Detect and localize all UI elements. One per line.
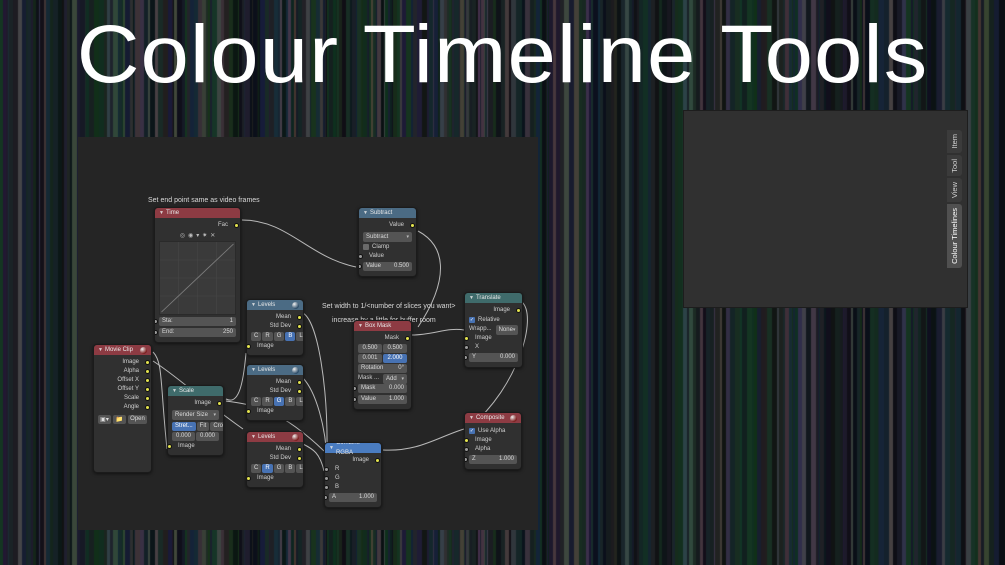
output-socket[interactable]: [410, 223, 415, 228]
curve-toolbar[interactable]: ◎◉▾✷✕: [159, 230, 236, 240]
input-socket[interactable]: [324, 485, 329, 490]
node-field[interactable]: Value0.500: [363, 262, 412, 271]
node-input-label: Image: [257, 407, 274, 416]
zoom-in-icon[interactable]: ◎: [180, 232, 185, 239]
zoom-out-icon[interactable]: ◉: [188, 232, 193, 239]
node-field[interactable]: A1.000: [329, 493, 377, 502]
node-header[interactable]: ▼Composite: [465, 413, 521, 423]
node-channel-button[interactable]: R: [262, 332, 272, 341]
node-field-row[interactable]: End:250: [159, 327, 236, 338]
node-dropdown-value: Add: [386, 374, 397, 384]
translate-node[interactable]: ▼TranslateImage✓RelativeWrapp...None▾Ima…: [464, 292, 523, 368]
node-output-row[interactable]: Alpha: [98, 367, 147, 376]
output-socket[interactable]: [145, 387, 150, 392]
node-channel-button[interactable]: L: [296, 397, 304, 406]
node-header[interactable]: ▼Levels: [247, 365, 303, 375]
node-input-label: Value: [369, 252, 384, 261]
node-value-pair[interactable]: 0.5000.500: [358, 344, 407, 353]
node-mode-group[interactable]: Stret...FitCrop: [172, 422, 219, 431]
node-output-row[interactable]: Scale: [98, 394, 147, 403]
node-annotation: Set end point same as video frames: [148, 197, 260, 204]
node-output-label: Image: [493, 306, 510, 315]
node-output-label: Mean: [276, 378, 291, 387]
output-socket[interactable]: [405, 336, 410, 341]
node-input-row[interactable]: X: [469, 343, 518, 352]
input-socket[interactable]: [358, 264, 362, 269]
combine-rgba-node[interactable]: ▼Combine RGBAImageRGBA1.000: [324, 442, 382, 508]
output-socket[interactable]: [145, 405, 150, 410]
node-value-field[interactable]: 0.000: [196, 432, 219, 441]
checkbox-icon[interactable]: [363, 244, 369, 250]
node-header[interactable]: ▼Levels: [247, 300, 303, 310]
node-channel-button[interactable]: R: [262, 397, 272, 406]
node-output-row[interactable]: Mean: [251, 378, 299, 387]
output-socket[interactable]: [297, 389, 302, 394]
node-output-label: Std Dev: [270, 454, 291, 463]
node-preview-sphere-icon: [292, 434, 299, 441]
levels-node-g[interactable]: ▼LevelsMeanStd DevCRGBLImage: [246, 364, 304, 421]
output-socket[interactable]: [297, 315, 302, 320]
node-rotation-label: Rotation: [361, 364, 383, 373]
node-preview-sphere-icon: [292, 367, 299, 374]
node-title: Levels: [258, 432, 275, 442]
node-collapse-icon[interactable]: ▼: [329, 443, 334, 453]
input-socket[interactable]: [353, 397, 357, 402]
curve-widget[interactable]: [159, 241, 236, 315]
sidebar-tabs[interactable]: ItemToolViewColour Timelines: [947, 130, 964, 302]
tab-item[interactable]: Item: [947, 130, 962, 153]
node-dropdown-row[interactable]: Mask ...Add▾: [358, 374, 407, 383]
input-socket[interactable]: [167, 444, 172, 449]
node-preview-sphere-icon: [292, 302, 299, 309]
input-socket[interactable]: [358, 254, 363, 259]
node-field-label: Sta:: [162, 317, 173, 326]
levels-node-b[interactable]: ▼LevelsMeanStd DevCRGBLImage: [246, 299, 304, 356]
open-button[interactable]: Open: [128, 415, 147, 424]
node-output-label: Std Dev: [270, 322, 291, 331]
node-dropdown-label: Wrapp...: [469, 325, 492, 334]
movie-clip-node[interactable]: ▼Movie ClipImageAlphaOffset XOffset YSca…: [93, 344, 152, 473]
checkbox-icon[interactable]: ✓: [469, 317, 475, 323]
node-header[interactable]: ▼Translate: [465, 293, 522, 303]
node-collapse-icon[interactable]: ▼: [251, 300, 256, 310]
node-channel-button[interactable]: G: [274, 332, 285, 341]
node-input-row[interactable]: Image: [251, 342, 299, 351]
node-field-label: Mask: [361, 384, 375, 393]
node-field-label: Value: [361, 395, 376, 404]
node-mode-button[interactable]: Fit: [197, 422, 210, 431]
node-preview-sphere-icon: [140, 347, 147, 354]
node-output-row[interactable]: Offset Y: [98, 385, 147, 394]
tab-colour-timelines[interactable]: Colour Timelines: [947, 204, 962, 268]
output-socket[interactable]: [145, 378, 150, 383]
node-output-row[interactable]: Std Dev: [251, 322, 299, 331]
scale-node[interactable]: ▼ScaleImageRender Size▾Stret...FitCrop0.…: [167, 385, 224, 456]
node-input-row[interactable]: Image: [251, 407, 299, 416]
output-socket[interactable]: [234, 223, 239, 228]
node-collapse-icon[interactable]: ▼: [251, 365, 256, 375]
node-input-label: Image: [178, 442, 195, 451]
node-output-label: Image: [352, 456, 369, 465]
output-socket[interactable]: [217, 401, 222, 406]
node-field-row[interactable]: Value0.500: [363, 261, 412, 272]
node-channel-button[interactable]: C: [251, 397, 261, 406]
node-output-label: Image: [194, 399, 211, 408]
input-socket[interactable]: [246, 476, 251, 481]
node-output-row[interactable]: Value: [363, 221, 412, 230]
node-preview-sphere-icon: [510, 415, 517, 422]
output-socket[interactable]: [145, 369, 150, 374]
node-field-value: 0.000: [500, 353, 515, 362]
node-value-field[interactable]: 0.500: [358, 344, 382, 353]
node-channel-button[interactable]: B: [285, 397, 295, 406]
node-output-row[interactable]: Mask: [358, 334, 407, 343]
node-dropdown-value: Render Size: [175, 410, 208, 420]
chevron-down-icon: ▾: [213, 410, 216, 420]
folder-icon[interactable]: 📁: [113, 415, 126, 424]
node-title: Translate: [476, 293, 501, 303]
node-input-row[interactable]: Image: [251, 474, 299, 483]
node-collapse-icon[interactable]: ▼: [469, 293, 474, 303]
node-field-label: Z: [472, 455, 476, 464]
node-output-label: Fac: [218, 221, 228, 230]
node-dropdown[interactable]: Render Size▾: [172, 410, 219, 420]
node-collapse-icon[interactable]: ▼: [251, 432, 256, 442]
node-output-row[interactable]: Mean: [251, 313, 299, 322]
chevron-down-icon: ▾: [513, 325, 516, 335]
node-dropdown-value: None: [499, 325, 513, 335]
node-rotation-field[interactable]: Rotation0°: [358, 364, 407, 373]
node-input-label: R: [335, 465, 339, 474]
node-rotation-value: 0°: [398, 364, 404, 373]
node-output-label: Std Dev: [270, 387, 291, 396]
node-field[interactable]: Sta:1: [159, 317, 236, 326]
node-collapse-icon[interactable]: ▼: [363, 208, 368, 218]
node-field[interactable]: Value1.000: [358, 395, 407, 404]
node-field-label: Y: [472, 353, 476, 362]
tab-view[interactable]: View: [947, 178, 962, 202]
node-field-value: 1: [230, 317, 233, 326]
node-field-value: 0.000: [389, 384, 404, 393]
node-field-value: 0.500: [394, 262, 409, 271]
node-output-row[interactable]: Image: [98, 358, 147, 367]
node-header[interactable]: ▼Movie Clip: [94, 345, 151, 355]
node-value-field[interactable]: 0.000: [172, 432, 195, 441]
time-node[interactable]: ▼TimeFac◎◉▾✷✕Sta:1End:250: [154, 207, 241, 343]
node-collapse-icon[interactable]: ▼: [469, 413, 474, 423]
node-input-row[interactable]: R: [329, 465, 377, 474]
node-input-label: Image: [475, 436, 492, 445]
output-socket[interactable]: [375, 458, 380, 463]
node-header[interactable]: ▼Time: [155, 208, 240, 218]
browse-image-icon[interactable]: ▣▾: [98, 415, 111, 424]
node-value-field[interactable]: 0.500: [383, 344, 407, 353]
node-field-value: 1.000: [499, 455, 514, 464]
node-collapse-icon[interactable]: ▼: [172, 386, 177, 396]
input-socket[interactable]: [353, 386, 357, 391]
node-channel-button[interactable]: C: [251, 464, 261, 473]
node-field-row[interactable]: Mask0.000: [358, 383, 407, 394]
node-channel-button[interactable]: G: [274, 464, 285, 473]
node-input-label: Alpha: [475, 445, 490, 454]
input-socket[interactable]: [324, 467, 329, 472]
tab-tool[interactable]: Tool: [947, 155, 962, 177]
input-socket[interactable]: [154, 330, 158, 335]
node-dropdown[interactable]: None▾: [496, 325, 519, 335]
node-collapse-icon[interactable]: ▼: [159, 208, 164, 218]
node-title: Box Mask: [365, 321, 391, 331]
node-value-pair[interactable]: 0.0012.000: [358, 354, 407, 363]
output-socket[interactable]: [297, 447, 302, 452]
node-channel-group[interactable]: CRGBL: [251, 464, 299, 473]
node-editor[interactable]: Set end point same as video framesSet wi…: [78, 137, 538, 530]
node-title: Composite: [476, 413, 505, 423]
input-socket[interactable]: [464, 457, 468, 462]
node-output-label: Scale: [124, 394, 139, 403]
output-socket[interactable]: [297, 380, 302, 385]
node-field[interactable]: Y0.000: [469, 353, 518, 362]
node-output-label: Alpha: [124, 367, 139, 376]
input-socket[interactable]: [154, 319, 158, 324]
node-output-label: Mean: [276, 313, 291, 322]
input-socket[interactable]: [324, 476, 329, 481]
properties-sidebar: ▼ Colour Timelines ✔ setup compositing ◉…: [683, 110, 968, 308]
node-field-value: 1.000: [389, 395, 404, 404]
node-output-label: Offset Y: [118, 385, 139, 394]
node-output-label: Image: [122, 358, 139, 367]
levels-node-r[interactable]: ▼LevelsMeanStd DevCRGBLImage: [246, 431, 304, 488]
node-value-field[interactable]: 0.001: [358, 354, 382, 363]
node-input-row[interactable]: Image: [172, 442, 219, 451]
node-output-label: Mask: [385, 334, 399, 343]
input-socket[interactable]: [464, 355, 468, 360]
output-socket[interactable]: [145, 396, 150, 401]
node-field-row[interactable]: Sta:1: [159, 316, 236, 327]
output-socket[interactable]: [145, 360, 150, 365]
node-field-label: Value: [366, 262, 381, 271]
node-channel-button[interactable]: L: [296, 332, 304, 341]
node-input-row[interactable]: G: [329, 474, 377, 483]
node-input-label: B: [335, 483, 339, 492]
node-input-row[interactable]: Image: [469, 334, 518, 343]
node-channel-group[interactable]: CRGBL: [251, 397, 299, 406]
node-field-value: 250: [223, 328, 233, 337]
node-checkbox-label: Clamp: [372, 244, 389, 250]
node-output-row[interactable]: Mean: [251, 445, 299, 454]
node-dropdown-row[interactable]: Wrapp...None▾: [469, 325, 518, 334]
input-socket[interactable]: [464, 438, 469, 443]
node-title: Levels: [258, 300, 275, 310]
node-value-field[interactable]: 2.000: [383, 354, 407, 363]
node-input-row[interactable]: Value: [363, 252, 412, 261]
node-channel-button[interactable]: G: [274, 397, 285, 406]
node-collapse-icon[interactable]: ▼: [98, 345, 103, 355]
node-input-row[interactable]: B: [329, 483, 377, 492]
node-output-row[interactable]: Std Dev: [251, 387, 299, 396]
node-mode-button[interactable]: Crop: [210, 422, 224, 431]
input-socket[interactable]: [246, 409, 251, 414]
node-mode-button[interactable]: Stret...: [172, 422, 196, 431]
tab-label: View: [950, 182, 959, 198]
node-field[interactable]: Z1.000: [469, 455, 517, 464]
node-checkbox-label: Relative: [478, 317, 500, 323]
box-mask-node[interactable]: ▼Box MaskMask0.5000.5000.0012.000Rotatio…: [353, 320, 412, 410]
node-header[interactable]: ▼Subtract: [359, 208, 416, 218]
x-icon[interactable]: ✕: [210, 232, 215, 239]
composite-node[interactable]: ▼Composite✓Use AlphaImageAlphaZ1.000: [464, 412, 522, 470]
chevron-down-icon: ▾: [401, 374, 404, 384]
node-output-row[interactable]: Image: [172, 399, 219, 408]
node-header[interactable]: ▼Levels: [247, 432, 303, 442]
node-field[interactable]: Mask0.000: [358, 384, 407, 393]
node-output-row[interactable]: Angle: [98, 403, 147, 412]
node-title: Scale: [179, 386, 194, 396]
input-socket[interactable]: [246, 344, 251, 349]
node-field-row[interactable]: A1.000: [329, 492, 377, 503]
subtract-node[interactable]: ▼SubtractValueSubtract▾ClampValueValue0.…: [358, 207, 417, 277]
node-field-row[interactable]: Value1.000: [358, 394, 407, 405]
node-channel-group[interactable]: CRGBL: [251, 332, 299, 341]
node-input-label: X: [475, 343, 479, 352]
tab-label: Colour Timelines: [950, 208, 959, 264]
node-title: Levels: [258, 365, 275, 375]
input-socket[interactable]: [464, 447, 469, 452]
node-input-label: Image: [257, 342, 274, 351]
output-socket[interactable]: [297, 456, 302, 461]
node-title: Time: [166, 208, 179, 218]
node-title: Subtract: [370, 208, 392, 218]
node-header[interactable]: ▼Scale: [168, 386, 223, 396]
node-checkbox[interactable]: ✓Use Alpha: [469, 428, 517, 434]
node-output-row[interactable]: Offset X: [98, 376, 147, 385]
node-dropdown[interactable]: Add▾: [383, 374, 407, 384]
node-channel-button[interactable]: R: [262, 464, 272, 473]
node-title: Movie Clip: [105, 345, 133, 355]
node-collapse-icon[interactable]: ▼: [358, 321, 363, 331]
node-dropdown-value: Subtract: [366, 232, 388, 242]
output-socket[interactable]: [516, 308, 521, 313]
node-input-label: G: [335, 474, 340, 483]
node-field-row[interactable]: Y0.000: [469, 352, 518, 363]
node-open-row[interactable]: ▣▾📁Open: [98, 415, 147, 424]
node-annotation: Set width to 1/<number of slices you wan…: [322, 303, 455, 310]
node-output-label: Value: [389, 221, 404, 230]
node-dropdown[interactable]: Subtract▾: [363, 232, 412, 242]
node-checkbox[interactable]: Clamp: [363, 244, 412, 250]
input-socket[interactable]: [464, 336, 469, 341]
node-value-pair[interactable]: 0.0000.000: [172, 432, 219, 441]
screenshot-root: Colour Timeline Tools Set end point same…: [0, 0, 1005, 565]
node-channel-button[interactable]: C: [251, 332, 261, 341]
output-socket[interactable]: [297, 324, 302, 329]
node-output-label: Angle: [124, 403, 139, 412]
node-field-row[interactable]: Z1.000: [469, 454, 517, 465]
chevron-down-icon: ▾: [406, 232, 409, 242]
node-checkbox-label: Use Alpha: [478, 428, 505, 434]
node-output-label: Mean: [276, 445, 291, 454]
node-dropdown-label: Mask ...: [358, 374, 379, 383]
node-input-label: Image: [475, 334, 492, 343]
node-field[interactable]: End:250: [159, 328, 236, 337]
node-input-row[interactable]: Image: [469, 436, 517, 445]
node-checkbox[interactable]: ✓Relative: [469, 317, 518, 323]
node-header[interactable]: ▼Combine RGBA: [325, 443, 381, 453]
node-field-value: 1.000: [359, 493, 374, 502]
node-input-row[interactable]: Alpha: [469, 445, 517, 454]
node-channel-button[interactable]: L: [296, 464, 304, 473]
chevron-down-icon[interactable]: ▾: [196, 232, 199, 239]
node-output-label: Offset X: [117, 376, 139, 385]
node-field-label: A: [332, 493, 336, 502]
dot-icon[interactable]: ✷: [202, 232, 207, 239]
node-output-row[interactable]: Fac: [159, 221, 236, 230]
page-title: Colour Timeline Tools: [0, 0, 1005, 110]
input-socket[interactable]: [464, 345, 469, 350]
checkbox-icon[interactable]: ✓: [469, 428, 475, 434]
node-channel-button[interactable]: B: [285, 464, 295, 473]
node-output-row[interactable]: Image: [469, 306, 518, 315]
node-input-label: Image: [257, 474, 274, 483]
node-channel-button[interactable]: B: [285, 332, 295, 341]
node-field-label: End:: [162, 328, 174, 337]
tab-label: Tool: [950, 159, 959, 173]
input-socket[interactable]: [324, 495, 328, 500]
tab-label: Item: [950, 134, 959, 149]
node-header[interactable]: ▼Box Mask: [354, 321, 411, 331]
node-output-row[interactable]: Std Dev: [251, 454, 299, 463]
